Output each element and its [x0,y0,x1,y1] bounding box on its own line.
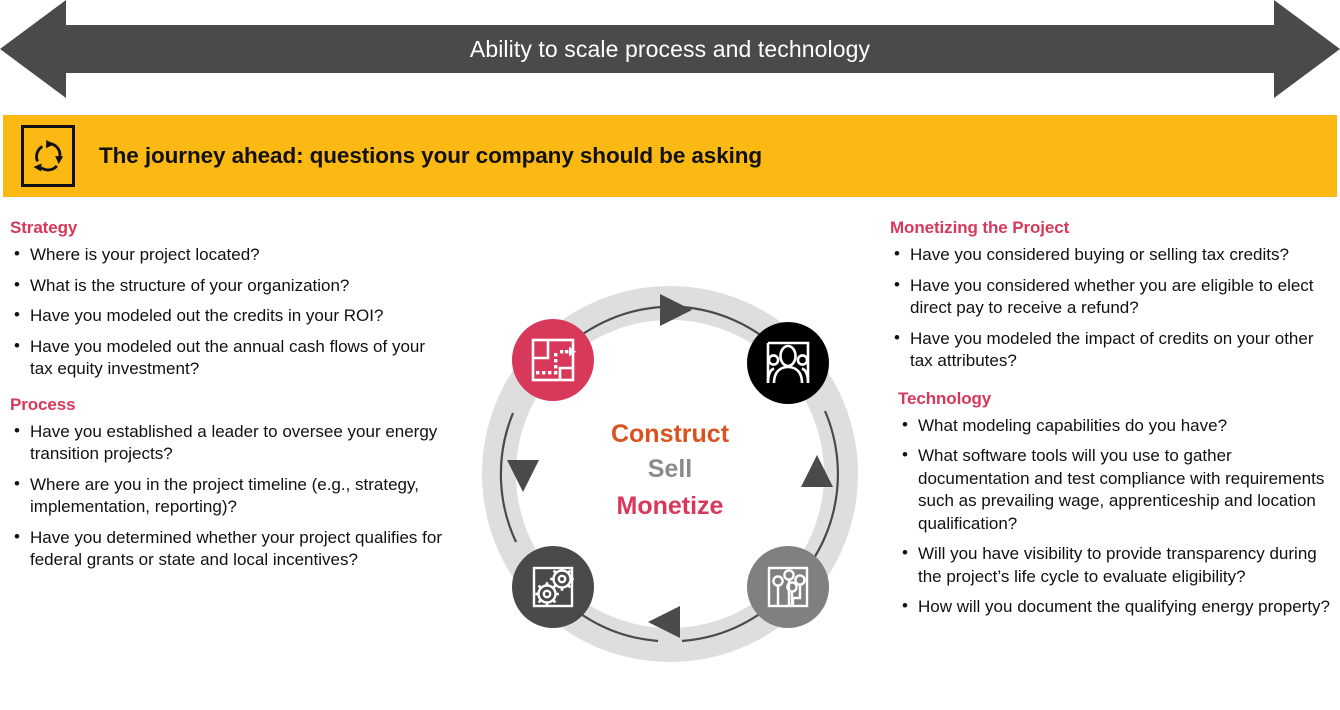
section-heading-monetizing-the-project: Monetizing the Project [890,218,1340,238]
list-item: Have you determined whether your project… [10,527,450,572]
list-item: Have you modeled out the credits in your… [10,305,450,328]
scale-arrow-label: Ability to scale process and technology [0,0,1340,98]
section-process: Process Have you established a leader to… [10,395,450,572]
section-monetizing-the-project: Monetizing the Project Have you consider… [890,218,1340,373]
right-question-column: Monetizing the Project Have you consider… [890,218,1340,627]
scale-arrow-banner: Ability to scale process and technology [0,0,1340,98]
list-item: What is the structure of your organizati… [10,275,450,298]
strategy-node-circle [512,319,594,401]
list-item: What software tools will you use to gath… [898,445,1340,535]
monetizing-question-list: Have you considered buying or selling ta… [890,244,1340,373]
list-item: What modeling capabilities do you have? [898,415,1340,438]
section-technology: Technology What modeling capabilities do… [890,389,1340,619]
strategy-question-list: Where is your project located? What is t… [10,244,450,381]
list-item: How will you document the qualifying ene… [898,596,1340,619]
center-word-construct: Construct [611,420,730,448]
list-item: Where are you in the project timeline (e… [10,474,450,519]
list-item: Have you modeled out the annual cash flo… [10,336,450,381]
list-item: Where is your project located? [10,244,450,267]
construct-sell-monetize-cycle-diagram: Construct Sell Monetize [468,272,872,676]
journey-banner-title: The journey ahead: questions your compan… [99,143,762,169]
cycle-node-strategy [512,319,594,401]
recycle-cycle-icon [21,125,75,187]
list-item: Have you considered whether you are elig… [890,275,1340,320]
cycle-node-technology [747,546,829,628]
list-item: Have you considered buying or selling ta… [890,244,1340,267]
center-word-sell: Sell [648,455,692,483]
technology-question-list: What modeling capabilities do you have? … [898,415,1340,619]
journey-banner: The journey ahead: questions your compan… [3,115,1337,197]
left-question-column: Strategy Where is your project located? … [10,218,450,580]
process-question-list: Have you established a leader to oversee… [10,421,450,572]
section-heading-technology: Technology [898,389,1340,409]
section-heading-process: Process [10,395,450,415]
cycle-node-people [747,322,829,404]
list-item: Have you established a leader to oversee… [10,421,450,466]
cycle-node-process [512,546,594,628]
people-node-circle [747,322,829,404]
list-item: Have you modeled the impact of credits o… [890,328,1340,373]
center-word-monetize: Monetize [617,492,724,520]
section-strategy: Strategy Where is your project located? … [10,218,450,381]
section-heading-strategy: Strategy [10,218,450,238]
list-item: Will you have visibility to provide tran… [898,543,1340,588]
